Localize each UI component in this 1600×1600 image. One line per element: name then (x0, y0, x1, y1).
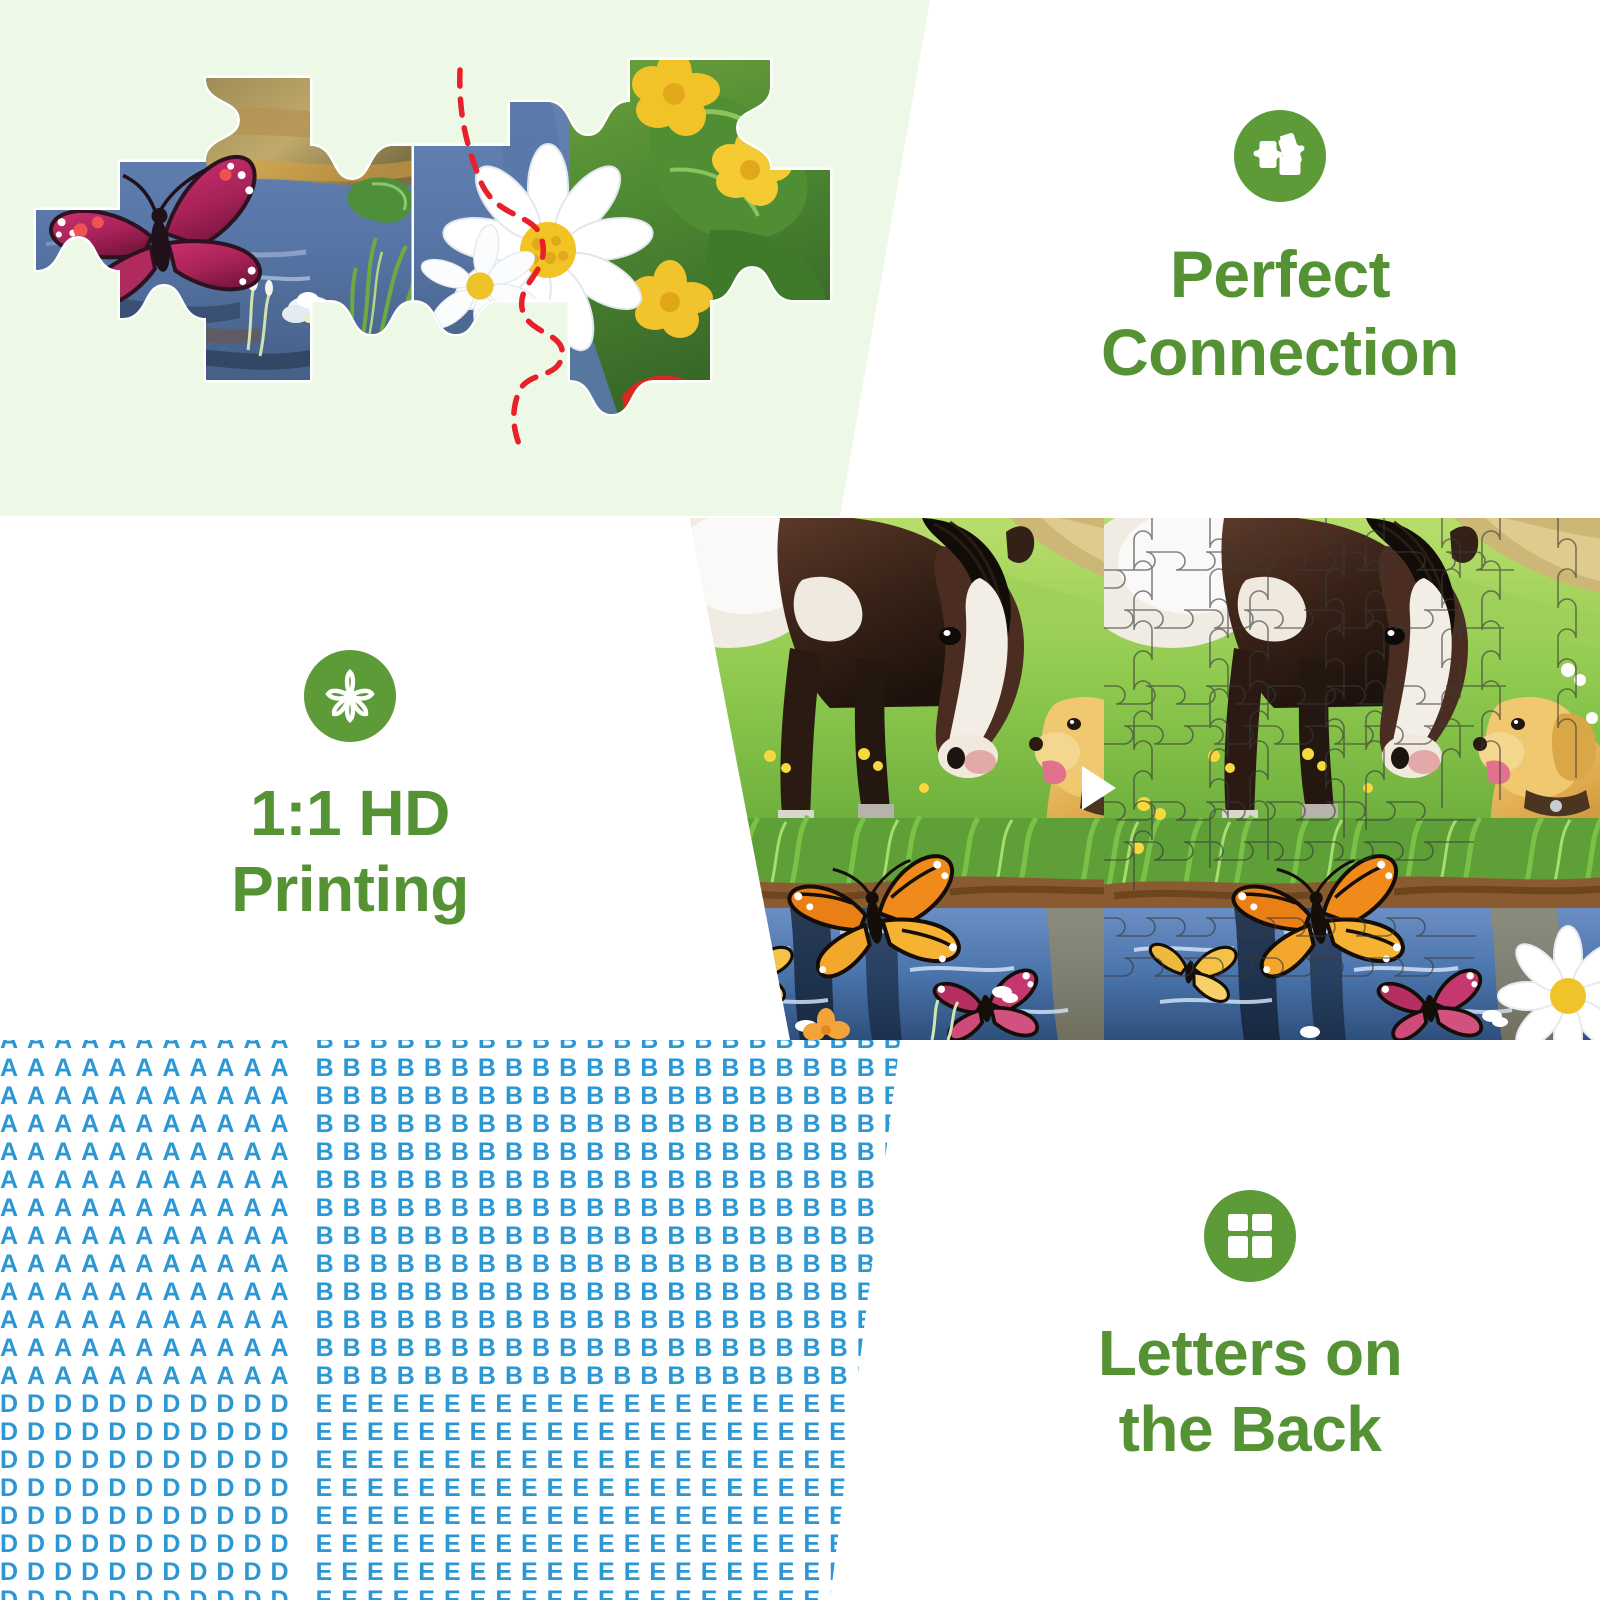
letter-block-d: DDDDDDDDDDD (0, 1446, 298, 1475)
letter-row: AAAAAAAAAAABBBBBBBBBBBBBBBBBBBBBBBBCCCCC… (0, 1082, 950, 1110)
artwork-photo (650, 518, 1120, 1040)
letter-block-e: EEEEEEEEEEEEEEEEEEEEEEEE (316, 1530, 932, 1559)
letter-block-a: AAAAAAAAAAA (0, 1040, 298, 1055)
letter-row: DDDDDDDDDDDEEEEEEEEEEEEEEEEEEEEEEEEFFFFF… (0, 1558, 950, 1586)
letter-row: AAAAAAAAAAABBBBBBBBBBBBBBBBBBBBBBBBCCCCC… (0, 1138, 950, 1166)
letter-block-b: BBBBBBBBBBBBBBBBBBBBBBBB (316, 1082, 950, 1111)
letter-block-e: EEEEEEEEEEEEEEEEEEEEEEEE (316, 1474, 932, 1503)
letter-row: AAAAAAAAAAABBBBBBBBBBBBBBBBBBBBBBBBCCCCC… (0, 1110, 950, 1138)
letter-row: AAAAAAAAAAABBBBBBBBBBBBBBBBBBBBBBBBCCCCC… (0, 1166, 950, 1194)
letter-block-a: AAAAAAAAAAA (0, 1110, 298, 1139)
letter-block-a: AAAAAAAAAAA (0, 1166, 298, 1195)
letter-block-e: EEEEEEEEEEEEEEEEEEEEEEEE (316, 1446, 932, 1475)
letter-row: DDDDDDDDDDDEEEEEEEEEEEEEEEEEEEEEEEEFFFFF… (0, 1530, 950, 1558)
feature-title-line2: the Back (1098, 1392, 1402, 1468)
letter-block-b: BBBBBBBBBBBBBBBBBBBBBBBB (316, 1334, 950, 1363)
letter-block-d: DDDDDDDDDDD (0, 1474, 298, 1503)
yellow-butterfly (700, 937, 793, 1003)
letter-block-a: AAAAAAAAAAA (0, 1054, 298, 1083)
letter-block-d: DDDDDDDDDDD (0, 1586, 298, 1600)
letter-block-b: BBBBBBBBBBBBBBBBBBBBBBBB (316, 1110, 950, 1139)
feature-hd-printing: 1:1 HD Printing (40, 650, 660, 960)
letter-block-a: AAAAAAAAAAA (0, 1306, 298, 1335)
hero-puzzle-pieces (10, 50, 850, 450)
letter-block-b: BBBBBBBBBBBBBBBBBBBBBBBB (316, 1138, 950, 1167)
feature-title-line2: Printing (231, 852, 469, 928)
assembled-puzzle-photo (1104, 518, 1600, 1040)
letter-row: AAAAAAAAAAABBBBBBBBBBBBBBBBBBBBBBBBCCCCC… (0, 1306, 950, 1334)
letter-row: AAAAAAAAAAABBBBBBBBBBBBBBBBBBBBBBBBCCCCC… (0, 1194, 950, 1222)
letter-row: AAAAAAAAAAABBBBBBBBBBBBBBBBBBBBBBBBCCCCC… (0, 1278, 950, 1306)
letter-row: DDDDDDDDDDDEEEEEEEEEEEEEEEEEEEEEEEEFFFFF… (0, 1390, 950, 1418)
infographic-stage: Perfect Connection (0, 0, 1600, 1600)
feature-title: Perfect Connection (1101, 236, 1459, 392)
letter-row: DDDDDDDDDDDEEEEEEEEEEEEEEEEEEEEEEEEFFFFF… (0, 1502, 950, 1530)
letter-block-d: DDDDDDDDDDD (0, 1530, 298, 1559)
grid-four-squares-icon (1204, 1190, 1296, 1282)
letter-block-a: AAAAAAAAAAA (0, 1194, 298, 1223)
letter-block-b: BBBBBBBBBBBBBBBBBBBBBBBB (316, 1250, 950, 1279)
letter-block-e: EEEEEEEEEEEEEEEEEEEEEEEE (316, 1390, 932, 1419)
letter-block-d: DDDDDDDDDDD (0, 1418, 298, 1447)
letter-row: AAAAAAAAAAABBBBBBBBBBBBBBBBBBBBBBBBCCCCC… (0, 1334, 950, 1362)
letter-block-b: BBBBBBBBBBBBBBBBBBBBBBBB (316, 1054, 950, 1083)
letter-block-a: AAAAAAAAAAA (0, 1362, 298, 1391)
letter-block-e: EEEEEEEEEEEEEEEEEEEEEEEE (316, 1558, 932, 1587)
feature-perfect-connection: Perfect Connection (960, 110, 1600, 430)
letter-block-e: EEEEEEEEEEEEEEEEEEEEEEEE (316, 1586, 932, 1600)
letter-row: AAAAAAAAAAABBBBBBBBBBBBBBBBBBBBBBBBCCCCC… (0, 1054, 950, 1082)
letter-block-a: AAAAAAAAAAA (0, 1278, 298, 1307)
letter-block-a: AAAAAAAAAAA (0, 1334, 298, 1363)
feature-title-line1: 1:1 HD (231, 776, 469, 852)
comparison-panel (620, 518, 1600, 1040)
puzzle-piece-right (400, 50, 840, 450)
letter-row: DDDDDDDDDDDEEEEEEEEEEEEEEEEEEEEEEEEFFFFF… (0, 1446, 950, 1474)
letter-block-a: AAAAAAAAAAA (0, 1250, 298, 1279)
letter-block-a: AAAAAAAAAAA (0, 1222, 298, 1251)
feature-title: 1:1 HD Printing (231, 776, 469, 927)
letter-block-a: AAAAAAAAAAA (0, 1138, 298, 1167)
letter-row: AAAAAAAAAAABBBBBBBBBBBBBBBBBBBBBBBBCCCCC… (0, 1040, 950, 1054)
letter-block-b: BBBBBBBBBBBBBBBBBBBBBBBB (316, 1194, 950, 1223)
play-arrow (1082, 766, 1116, 810)
letters-on-back-grid: AAAAAAAAAAABBBBBBBBBBBBBBBBBBBBBBBBCCCCC… (0, 1040, 950, 1600)
letter-block-b: BBBBBBBBBBBBBBBBBBBBBBBB (316, 1306, 950, 1335)
feature-letters-on-back: Letters on the Back (920, 1190, 1580, 1510)
letter-block-b: BBBBBBBBBBBBBBBBBBBBBBBB (316, 1166, 950, 1195)
letter-block-d: DDDDDDDDDDD (0, 1390, 298, 1419)
letter-row: DDDDDDDDDDDEEEEEEEEEEEEEEEEEEEEEEEEFFFFF… (0, 1474, 950, 1502)
letter-block-b: BBBBBBBBBBBBBBBBBBBBBBBB (316, 1278, 950, 1307)
letter-block-b: BBBBBBBBBBBBBBBBBBBBBBBB (316, 1040, 950, 1055)
letter-block-d: DDDDDDDDDDD (0, 1502, 298, 1531)
feature-title-line2: Connection (1101, 314, 1459, 392)
letter-row: DDDDDDDDDDDEEEEEEEEEEEEEEEEEEEEEEEEFFFFF… (0, 1418, 950, 1446)
letter-block-d: DDDDDDDDDDD (0, 1558, 298, 1587)
letter-block-b: BBBBBBBBBBBBBBBBBBBBBBBB (316, 1362, 950, 1391)
puzzle-piece-left (10, 50, 450, 450)
feature-title-line1: Perfect (1101, 236, 1459, 314)
letter-row: AAAAAAAAAAABBBBBBBBBBBBBBBBBBBBBBBBCCCCC… (0, 1362, 950, 1390)
letter-block-b: BBBBBBBBBBBBBBBBBBBBBBBB (316, 1222, 950, 1251)
letter-block-a: AAAAAAAAAAA (0, 1082, 298, 1111)
feature-title-line1: Letters on (1098, 1316, 1402, 1392)
letter-block-e: EEEEEEEEEEEEEEEEEEEEEEEE (316, 1418, 932, 1447)
letter-row: DDDDDDDDDDDEEEEEEEEEEEEEEEEEEEEEEEEFFFFF… (0, 1586, 950, 1600)
feature-title: Letters on the Back (1098, 1316, 1402, 1467)
letter-row: AAAAAAAAAAABBBBBBBBBBBBBBBBBBBBBBBBCCCCC… (0, 1250, 950, 1278)
flower-rosette-icon (304, 650, 396, 742)
letter-block-e: EEEEEEEEEEEEEEEEEEEEEEEE (316, 1502, 932, 1531)
letter-row: AAAAAAAAAAABBBBBBBBBBBBBBBBBBBBBBBBCCCCC… (0, 1222, 950, 1250)
puzzle-pieces-icon (1234, 110, 1326, 202)
